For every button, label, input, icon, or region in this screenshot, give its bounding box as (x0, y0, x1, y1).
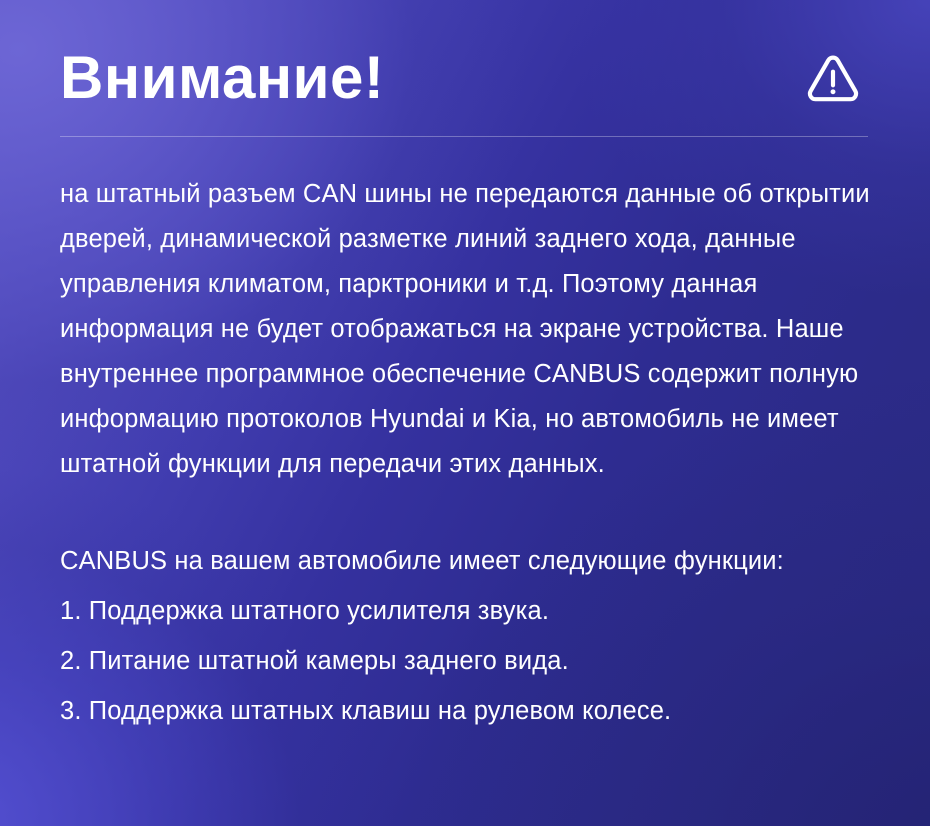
features-intro: CANBUS на вашем автомобиле имеет следующ… (60, 539, 870, 584)
banner-content: Внимание! на штатный разъем CAN шины не … (0, 0, 930, 826)
banner-body: на штатный разъем CAN шины не передаются… (52, 137, 878, 734)
warning-banner: Внимание! на штатный разъем CAN шины не … (0, 0, 930, 826)
banner-header: Внимание! (52, 0, 878, 109)
warning-paragraph: на штатный разъем CAN шины не передаются… (60, 137, 870, 487)
warning-triangle-icon (804, 49, 862, 107)
list-item: 2. Питание штатной камеры заднего вида. (60, 639, 870, 684)
features-section: CANBUS на вашем автомобиле имеет следующ… (60, 487, 870, 734)
page-title: Внимание! (60, 46, 384, 109)
list-item: 3. Поддержка штатных клавиш на рулевом к… (60, 689, 870, 734)
features-list: 1. Поддержка штатного усилителя звука. 2… (60, 589, 870, 734)
list-item: 1. Поддержка штатного усилителя звука. (60, 589, 870, 634)
